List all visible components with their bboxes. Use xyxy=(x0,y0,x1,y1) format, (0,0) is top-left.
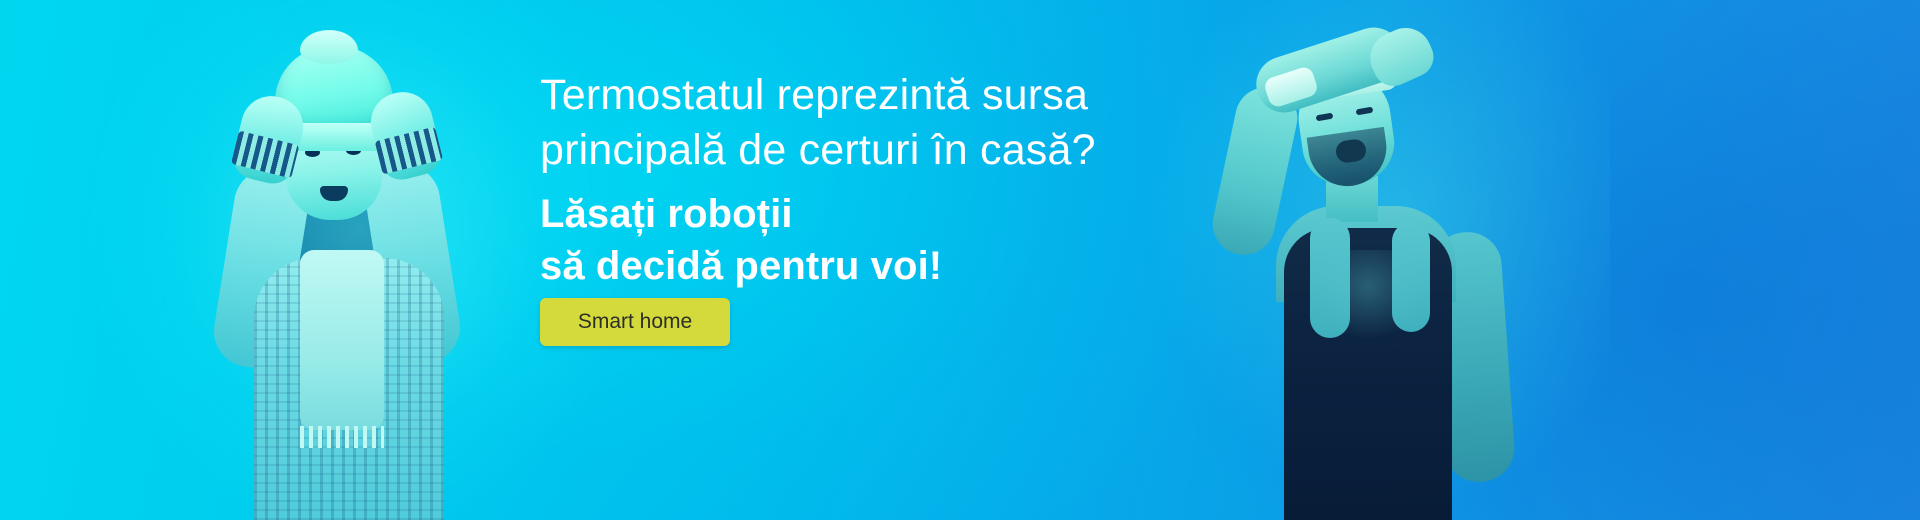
subheadline-line-1: Lăsați roboții xyxy=(540,192,793,236)
headline-line-1: Termostatul reprezintă sursa xyxy=(540,71,1088,119)
promo-banner: Termostatul reprezintă sursa principală … xyxy=(0,0,1920,520)
mitten-pattern-right xyxy=(375,127,443,175)
woman-hat-knob xyxy=(300,30,358,64)
headline-line-2: principală de certuri în casă? xyxy=(540,126,1096,174)
banner-content: Termostatul reprezintă sursa principală … xyxy=(540,0,1160,520)
subheadline-line-2: să decidă pentru voi! xyxy=(540,244,942,288)
woman-scarf xyxy=(300,250,384,430)
scarf-fringe xyxy=(300,426,384,448)
left-photo-woman xyxy=(150,0,570,520)
man-chest-highlight xyxy=(1308,250,1428,340)
banner-subheadline: Lăsați roboții să decidă pentru voi! xyxy=(540,188,1160,292)
banner-headline: Termostatul reprezintă sursa principală … xyxy=(540,68,1160,178)
mitten-pattern-left xyxy=(231,131,299,179)
smart-home-cta-button[interactable]: Smart home xyxy=(540,298,730,346)
right-photo-man xyxy=(1180,0,1560,520)
